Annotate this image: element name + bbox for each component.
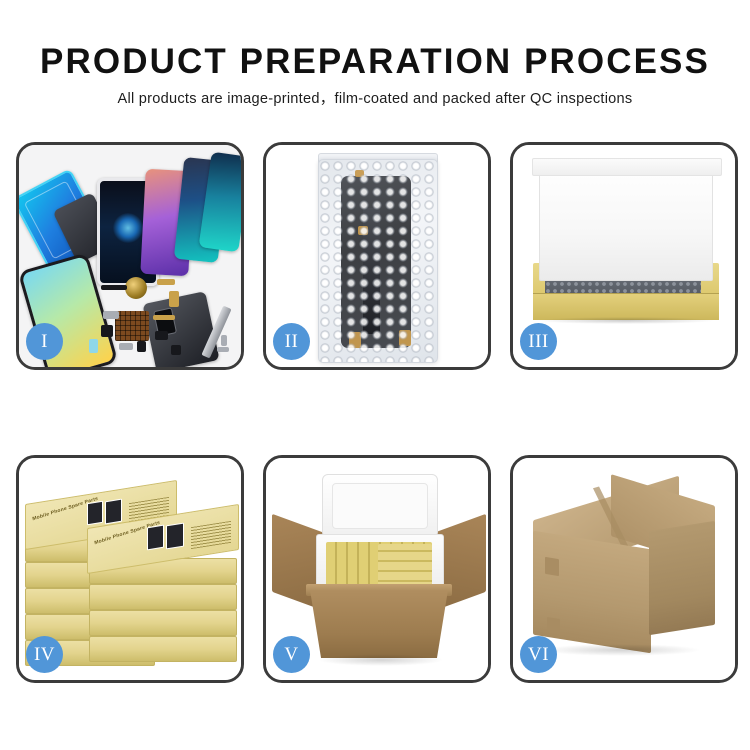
part-bit (101, 325, 113, 337)
part-bit (103, 311, 119, 319)
part-bit (169, 291, 179, 307)
part-bit (157, 279, 175, 285)
process-step-panel-4[interactable]: Mobile Phone Spare Parts Mobile Phone Sp… (16, 455, 244, 683)
yellow-box-front-icon (533, 293, 719, 320)
part-bit (101, 285, 127, 290)
part-bit (119, 343, 133, 350)
carton-side-face-icon (649, 521, 715, 635)
part-bit (153, 315, 175, 320)
carton-front-face-icon (533, 531, 651, 654)
product-photo-chip (147, 525, 164, 551)
box-shadow (318, 654, 444, 666)
part-bit (217, 347, 229, 352)
tape-tab-icon (358, 226, 368, 235)
product-photo-chip (87, 501, 103, 526)
part-bit (221, 335, 227, 346)
box-shadow (541, 644, 701, 656)
stacked-box (89, 610, 237, 636)
step-badge-3: III (520, 323, 557, 360)
step-badge-6: VI (520, 636, 557, 673)
carton-front-icon (310, 590, 448, 658)
tape-tab-icon (399, 330, 411, 346)
tape-patch-icon (545, 557, 559, 576)
process-step-panel-2[interactable]: II (263, 142, 491, 370)
process-step-grid: I II (16, 142, 738, 682)
part-bit (137, 341, 146, 352)
styrofoam-lid-icon (322, 474, 438, 538)
part-bit (89, 339, 98, 353)
product-photo-chip (105, 499, 122, 525)
process-step-panel-5[interactable]: V (263, 455, 491, 683)
step-badge-1: I (26, 323, 63, 360)
box-shadow (539, 317, 713, 324)
process-step-panel-1[interactable]: I (16, 142, 244, 370)
product-photo-chip (166, 523, 184, 550)
header: PRODUCT PREPARATION PROCESS All products… (0, 0, 750, 107)
circuit-board-icon (115, 311, 149, 341)
speaker-coil-icon (125, 277, 147, 299)
stacked-box (89, 584, 237, 610)
process-step-panel-3[interactable]: III (510, 142, 738, 370)
step-badge-2: II (273, 323, 310, 360)
process-step-panel-6[interactable]: VI (510, 455, 738, 683)
yellow-box-stack-icon: Mobile Phone Spare Parts Mobile Phone Sp… (25, 480, 237, 666)
product-preparation-infographic: PRODUCT PREPARATION PROCESS All products… (0, 0, 750, 750)
page-title: PRODUCT PREPARATION PROCESS (0, 0, 750, 79)
part-bit (171, 345, 181, 355)
bubble-wrap-bag-icon (318, 159, 438, 363)
tape-patch-icon (547, 617, 560, 634)
part-bit (155, 331, 168, 340)
stacked-box (89, 636, 237, 662)
step-badge-5: V (273, 636, 310, 673)
step-badge-4: IV (26, 636, 63, 673)
tape-tab-icon (349, 332, 361, 348)
tape-tab-icon (355, 170, 364, 177)
page-subtitle: All products are image-printed，film-coat… (0, 79, 750, 107)
white-cover-sheet-icon (539, 163, 713, 281)
